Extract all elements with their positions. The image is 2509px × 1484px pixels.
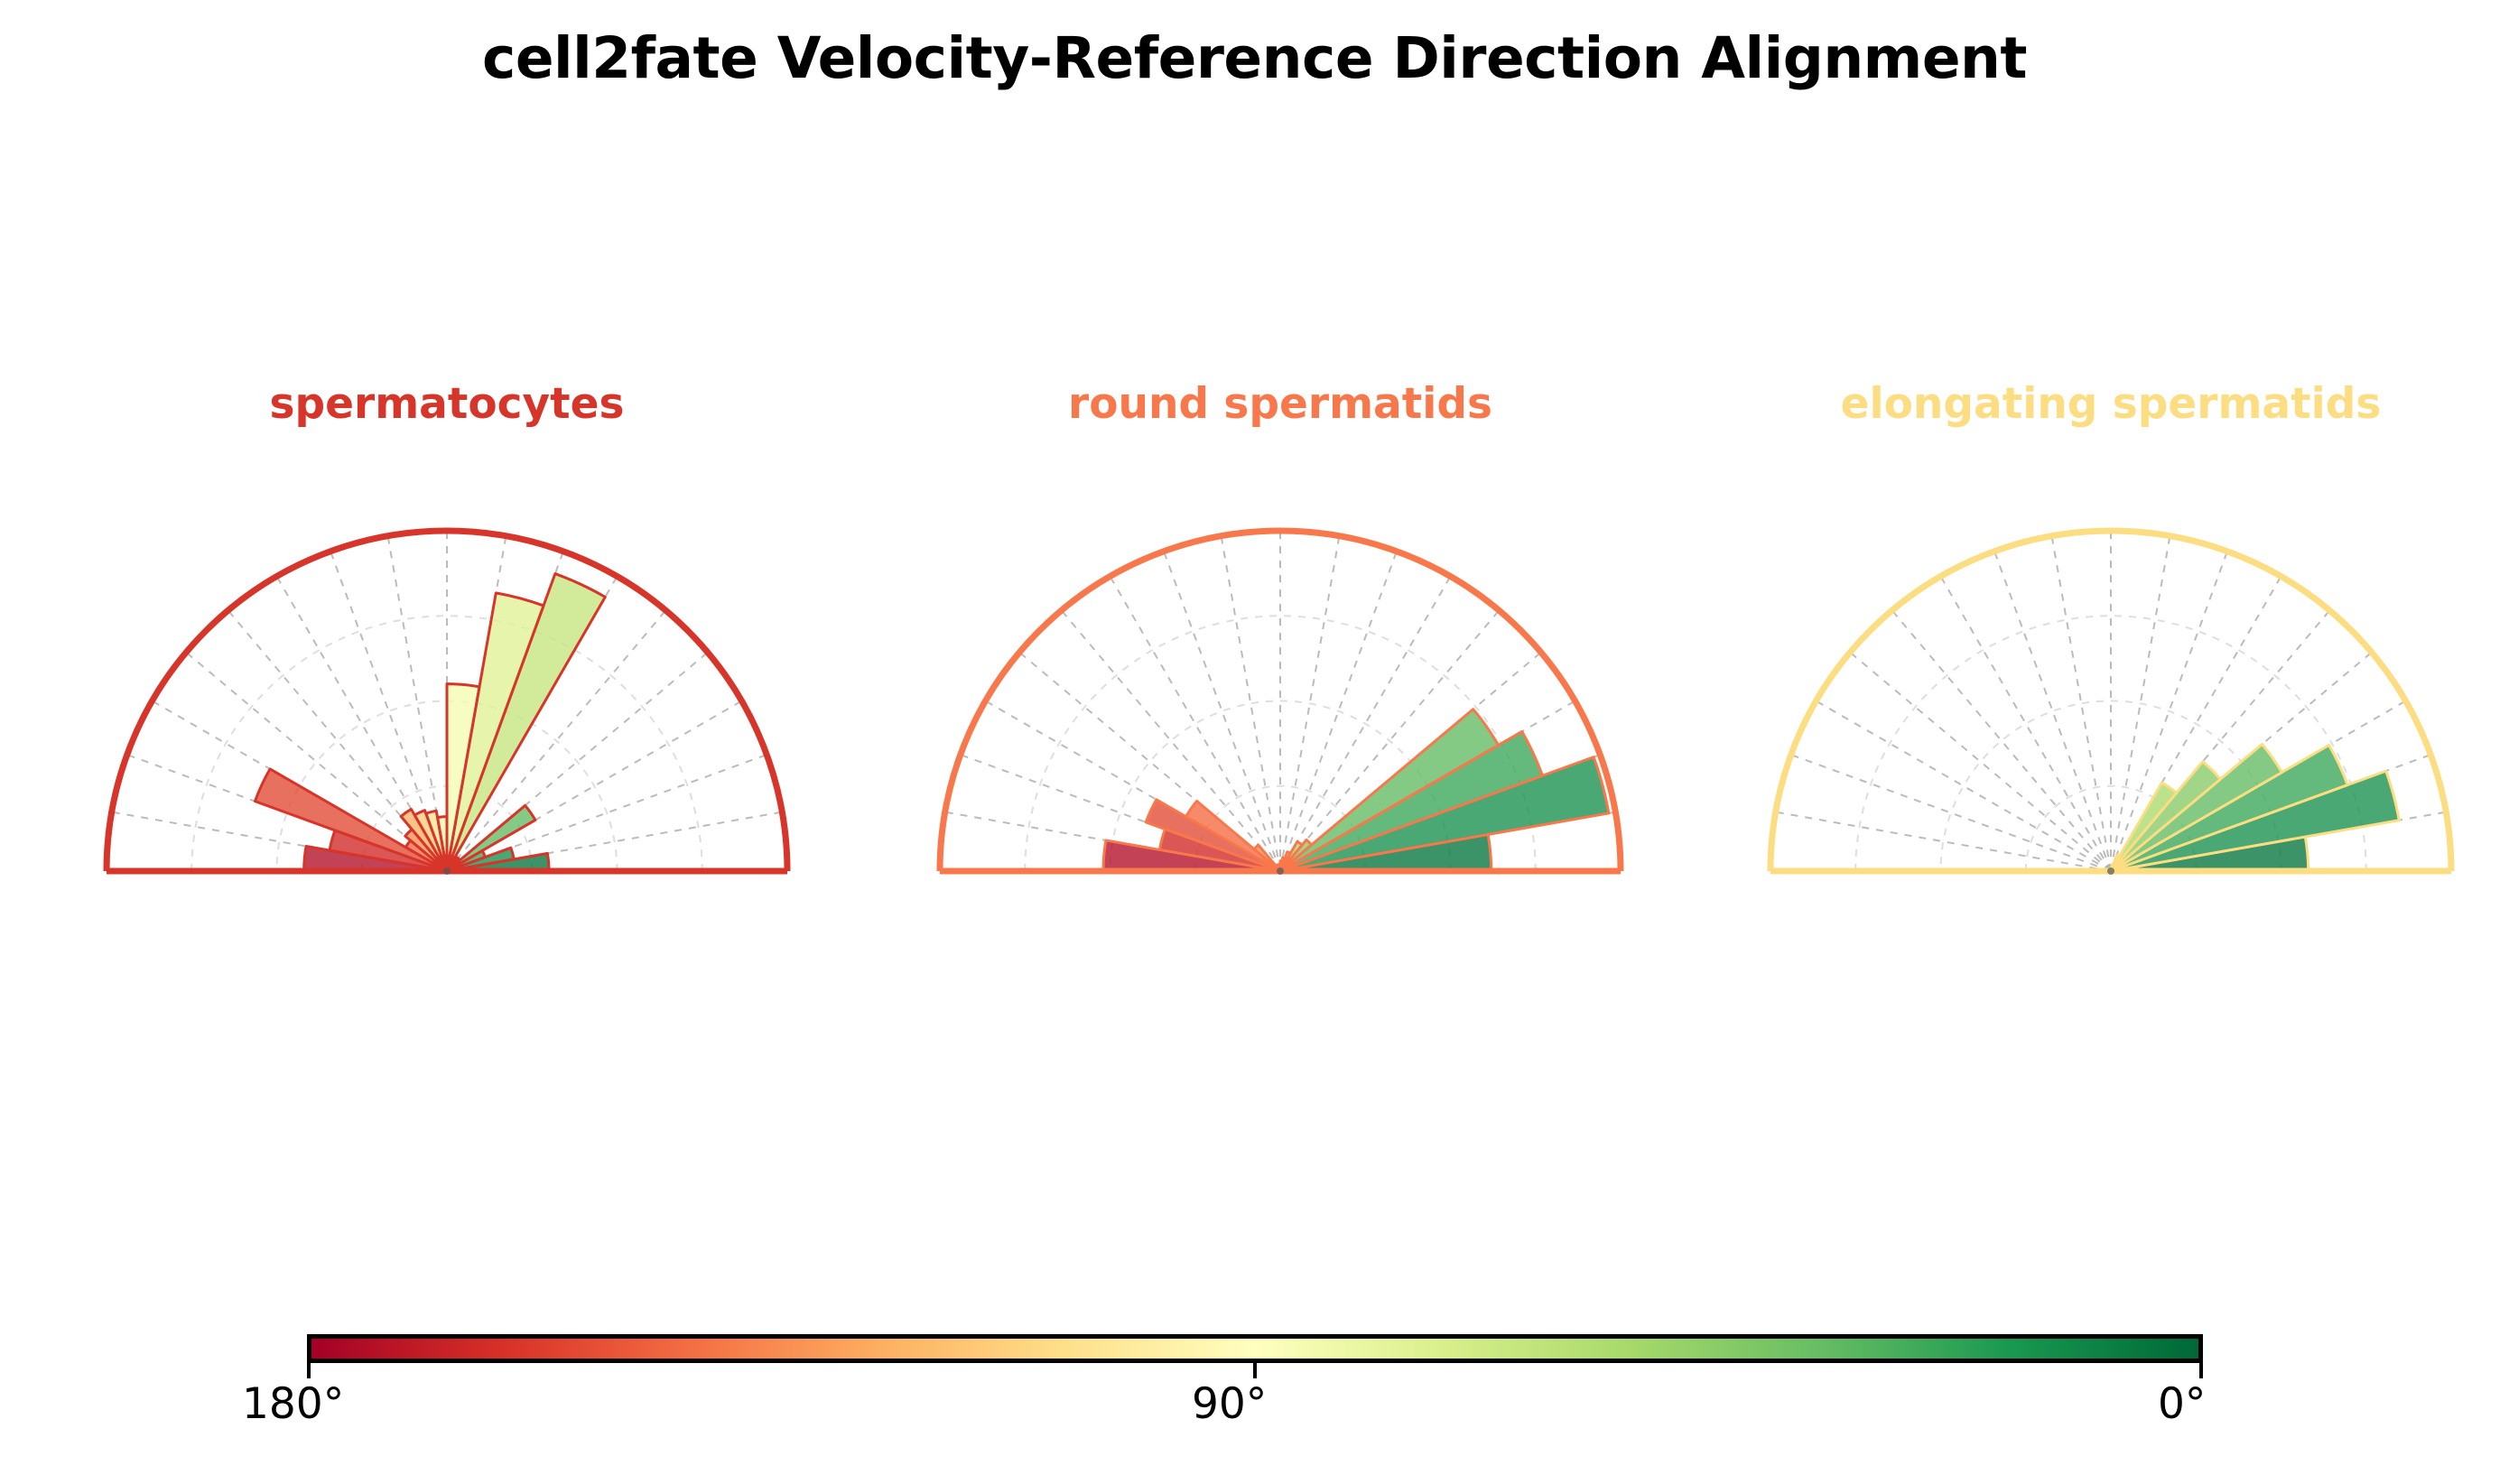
rose-diagram-spermatocytes [50,505,844,921]
figure-canvas: cell2fate Velocity-Reference Direction A… [0,0,2509,1484]
colorbar-tick-180 [307,1363,311,1378]
polar-panel-spermatocytes: spermatocytes [50,505,844,921]
panel-title-elongating-spermatids: elongating spermatids [1714,379,2508,429]
colorbar-tick-0 [2199,1363,2203,1378]
colorbar-gradient [307,1334,2203,1363]
rose-diagram-elongating-spermatids [1714,505,2508,921]
polar-panel-elongating-spermatids: elongating spermatids [1714,505,2508,921]
polar-center-dot [1277,867,1284,875]
polar-center-dot [2107,867,2114,875]
polar-center-dot [443,867,451,875]
colorbar-tick-90 [1253,1363,1257,1378]
colorbar-label-0: 0° [2158,1379,2206,1429]
colorbar-label-180: 180° [242,1379,344,1429]
colorbar-label-90: 90° [1192,1379,1267,1429]
panel-title-round-spermatids: round spermatids [883,379,1677,429]
rose-diagram-round-spermatids [883,505,1677,921]
colorbar [307,1334,2203,1363]
polar-panel-round-spermatids: round spermatids [883,505,1677,921]
panel-title-spermatocytes: spermatocytes [50,379,844,429]
figure-title: cell2fate Velocity-Reference Direction A… [0,25,2509,91]
